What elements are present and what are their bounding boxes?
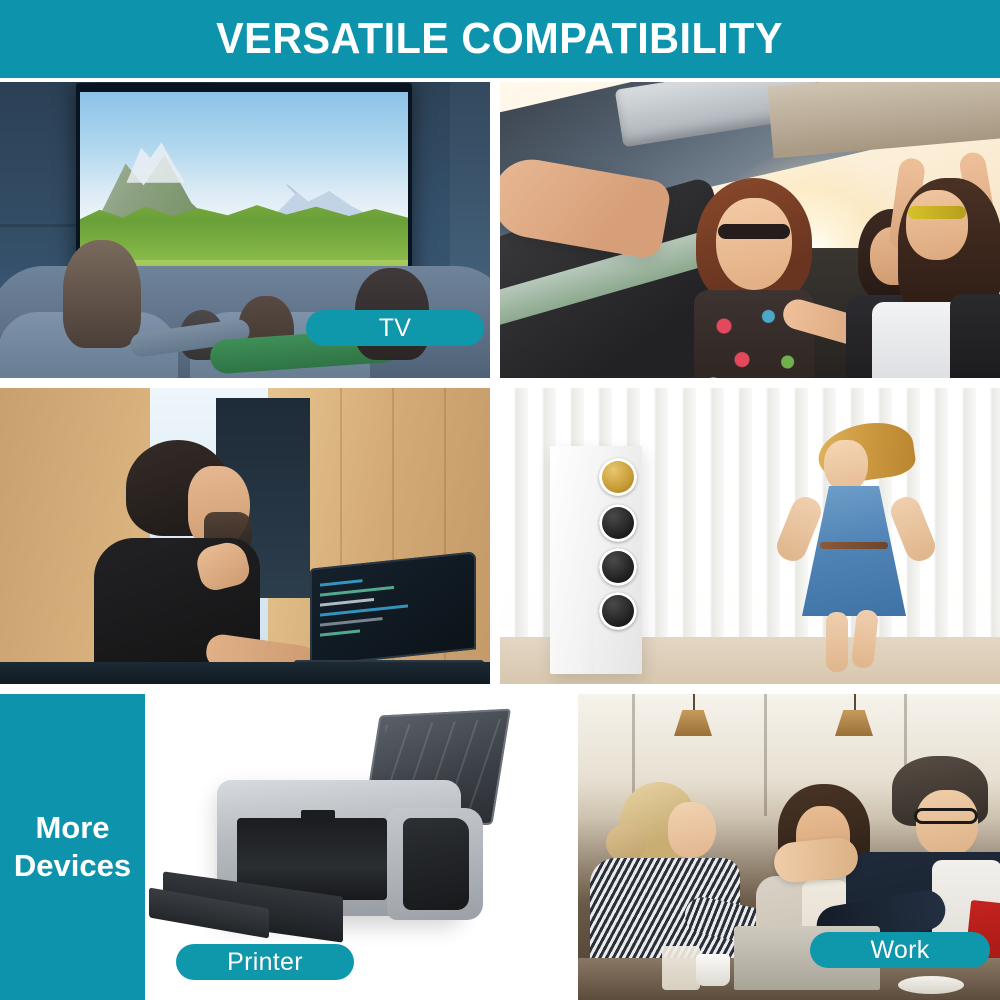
- laptop-screen: [310, 551, 476, 666]
- laptop: [294, 560, 484, 678]
- printer-brand-logo: [301, 810, 335, 823]
- person-using-laptop: [76, 426, 276, 684]
- tile-work[interactable]: Work: [578, 694, 1000, 1000]
- tile-computer[interactable]: Computer: [0, 388, 490, 684]
- dancing-girl-belt: [820, 542, 888, 549]
- passenger-right: [856, 162, 1000, 378]
- coffee-cup: [696, 954, 730, 986]
- badge-work-label: Work: [870, 938, 929, 963]
- badge-printer[interactable]: Printer: [176, 944, 354, 980]
- tile-printer[interactable]: Printer: [145, 694, 570, 1000]
- badge-tv-label: TV: [379, 316, 412, 341]
- eyeglasses-icon: [914, 808, 978, 824]
- badge-printer-label: Printer: [227, 950, 303, 975]
- dancing-girl: [792, 424, 922, 674]
- sugar-jar: [662, 946, 700, 990]
- tile-sound[interactable]: Sound: [500, 388, 1000, 684]
- sunglasses-icon: [718, 224, 790, 239]
- viewer-adult-left: [63, 240, 141, 348]
- dancing-girl-leg-left: [826, 612, 848, 672]
- car-interior: [500, 82, 1000, 378]
- inkjet-printer: [175, 712, 515, 962]
- printer-right-cover: [403, 818, 469, 910]
- page-title: VERSATILE COMPATIBILITY: [217, 17, 784, 61]
- passenger-front: [686, 178, 836, 378]
- header-banner: VERSATILE COMPATIBILITY: [0, 0, 1000, 78]
- desk-surface: [0, 662, 490, 684]
- pendant-lamp-cord-1: [693, 694, 695, 712]
- dancing-girl-leg-right: [851, 609, 879, 669]
- tile-car[interactable]: Car: [500, 82, 1000, 378]
- laptop-code-lines: [320, 565, 462, 652]
- passenger-right-jacket: [950, 294, 1000, 378]
- passenger-front-face: [716, 198, 792, 290]
- tile-tv[interactable]: TV: [0, 82, 490, 378]
- living-room-sheer-curtains: [500, 388, 1000, 684]
- speaker-driver-woofer-1: [599, 548, 637, 586]
- colleague-blonde-bun: [606, 824, 646, 862]
- passenger-right-face: [906, 190, 968, 260]
- colleague-blonde-face: [668, 802, 716, 858]
- tower-speaker: [550, 446, 642, 674]
- dancing-girl-face: [824, 440, 868, 492]
- badge-work[interactable]: Work: [810, 932, 990, 968]
- compatibility-infographic: VERSATILE COMPATIBILITY: [0, 0, 1000, 1000]
- speaker-driver-woofer-2: [599, 592, 637, 630]
- saucer: [898, 976, 964, 994]
- speaker-tweeter-gold: [599, 458, 637, 496]
- more-devices-label: More Devices: [14, 809, 131, 885]
- badge-tv[interactable]: TV: [306, 310, 484, 346]
- yellow-sunglasses-icon: [908, 206, 966, 219]
- office-background: [0, 388, 490, 684]
- more-devices-panel: More Devices: [0, 694, 145, 1000]
- pendant-lamp-cord-2: [854, 694, 856, 712]
- speaker-driver-mid: [599, 504, 637, 542]
